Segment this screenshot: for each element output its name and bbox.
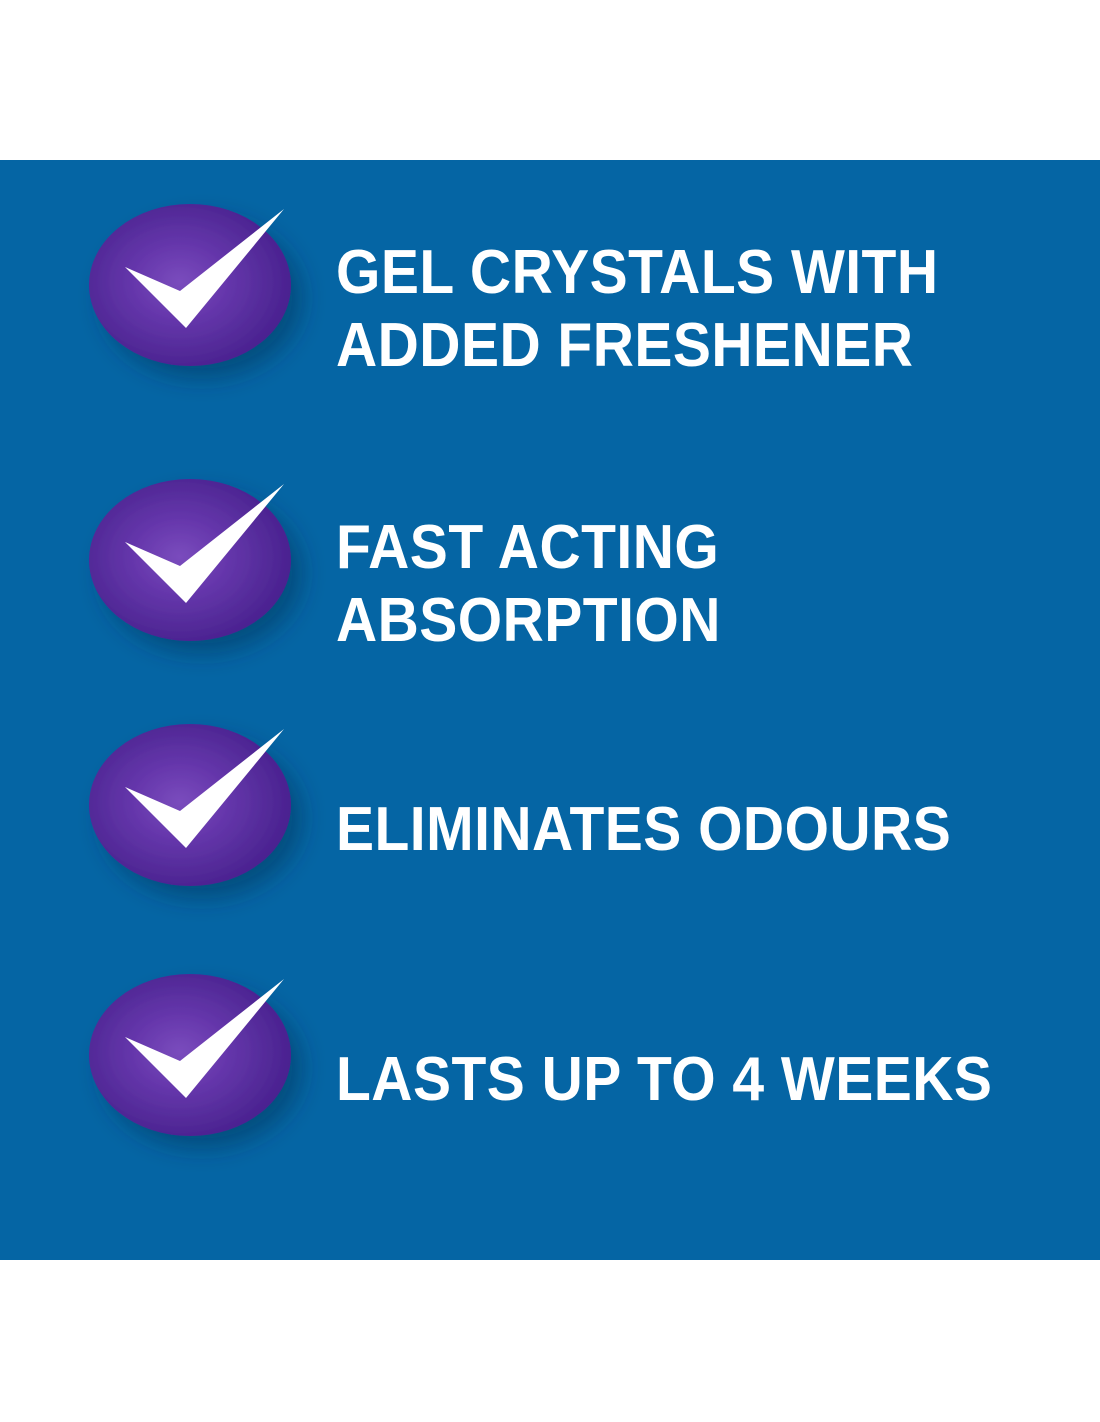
product-benefits-image: GEL CRYSTALS WITH ADDED FRESHENER <box>0 0 1100 1422</box>
benefit-row: ELIMINATES ODOURS <box>0 710 1100 950</box>
purple-check-ellipse-icon <box>88 195 318 425</box>
purple-check-ellipse-icon <box>88 715 318 945</box>
benefit-row: GEL CRYSTALS WITH ADDED FRESHENER <box>0 160 1100 460</box>
purple-check-ellipse-icon <box>88 470 318 700</box>
benefits-panel: GEL CRYSTALS WITH ADDED FRESHENER <box>0 160 1100 1260</box>
benefit-row: LASTS UP TO 4 WEEKS <box>0 950 1100 1210</box>
benefit-row: FAST ACTING ABSORPTION <box>0 460 1100 710</box>
purple-check-ellipse-icon <box>88 965 318 1195</box>
benefit-label: ELIMINATES ODOURS <box>336 794 1039 867</box>
benefit-label: FAST ACTING ABSORPTION <box>336 512 1039 657</box>
benefit-label: LASTS UP TO 4 WEEKS <box>336 1044 1039 1117</box>
benefit-label: GEL CRYSTALS WITH ADDED FRESHENER <box>336 237 1039 382</box>
